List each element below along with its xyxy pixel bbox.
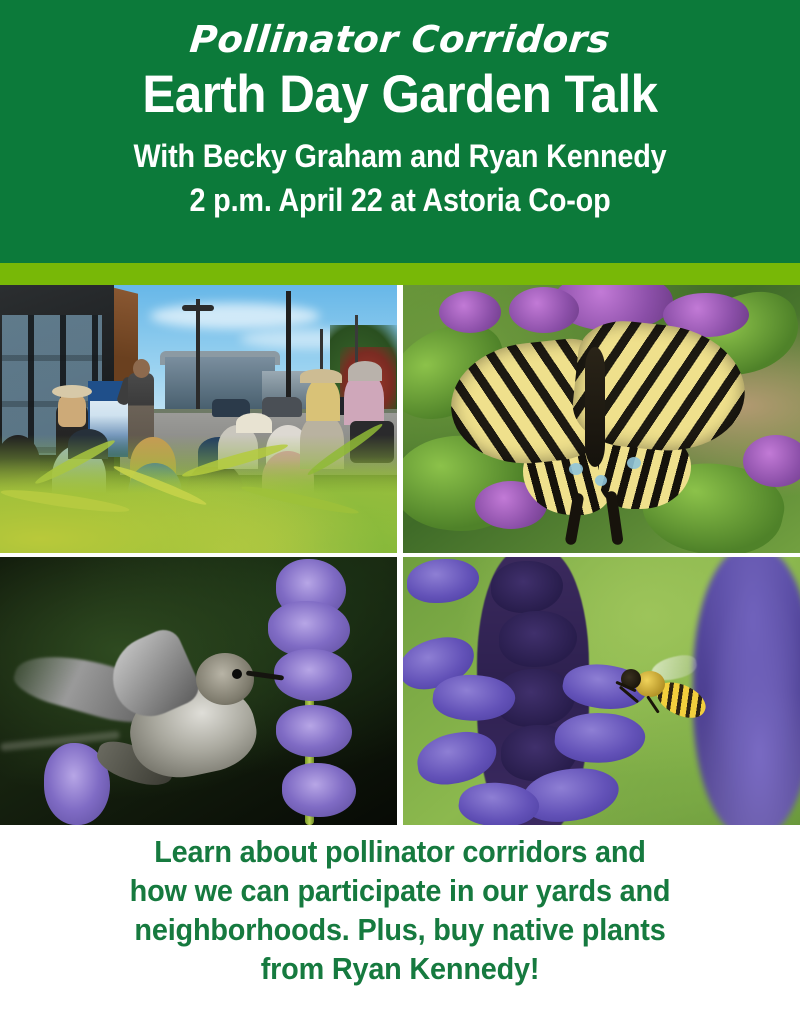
cloud-shape: [150, 303, 320, 329]
hyssop-flower-cluster: [282, 763, 356, 817]
butterfly-blue-spot: [627, 457, 641, 469]
street-lamp-head: [182, 305, 214, 311]
poster-header: Pollinator Corridors Earth Day Garden Ta…: [0, 0, 800, 263]
poster-presenters-line: With Becky Graham and Ryan Kennedy: [40, 134, 760, 178]
sun-hat: [52, 385, 92, 398]
photo-garden-talk: [0, 285, 397, 553]
butterfly-blue-spot: [569, 463, 583, 475]
butterfly-body: [585, 347, 605, 467]
audience-member: [306, 377, 340, 421]
poster-main-title: Earth Day Garden Talk: [28, 66, 772, 124]
hummingbird-head: [196, 653, 254, 705]
butterfly-blue-spot: [595, 475, 607, 486]
bee-balm-flower: [743, 435, 800, 487]
hyssop-flower-cluster: [274, 649, 352, 701]
event-poster: Pollinator Corridors Earth Day Garden Ta…: [0, 0, 800, 1035]
parked-car: [262, 397, 302, 417]
street-lamp-pole: [196, 299, 200, 409]
audience-member: [236, 413, 272, 433]
footer-line-1: Learn about pollinator corridors and: [28, 832, 772, 871]
footer-line-2: how we can participate in our yards and: [28, 871, 772, 910]
photo-bee-on-salvia: [403, 557, 800, 825]
green-accent-bar: [0, 263, 800, 285]
audience-member: [300, 369, 342, 383]
hyssop-flower-cluster: [276, 705, 352, 757]
poster-datetime-line: 2 p.m. April 22 at Astoria Co-op: [40, 178, 760, 222]
speaker-head: [133, 359, 150, 378]
bee-balm-flower: [439, 291, 501, 333]
bee-balm-flower: [509, 287, 579, 333]
photo-hummingbird: [0, 557, 397, 825]
footer-line-4: from Ryan Kennedy!: [28, 949, 772, 988]
audience-member: [348, 361, 382, 381]
footer-line-3: neighborhoods. Plus, buy native plants: [28, 910, 772, 949]
standing-attendee-hair: [58, 393, 86, 427]
hummingbird-eye: [232, 669, 242, 679]
poster-footer: Learn about pollinator corridors and how…: [0, 832, 800, 988]
salvia-spike-background: [693, 557, 800, 825]
photo-swallowtail-butterfly: [403, 285, 800, 553]
photo-grid: [0, 285, 800, 825]
poster-script-title: Pollinator Corridors: [0, 18, 800, 62]
